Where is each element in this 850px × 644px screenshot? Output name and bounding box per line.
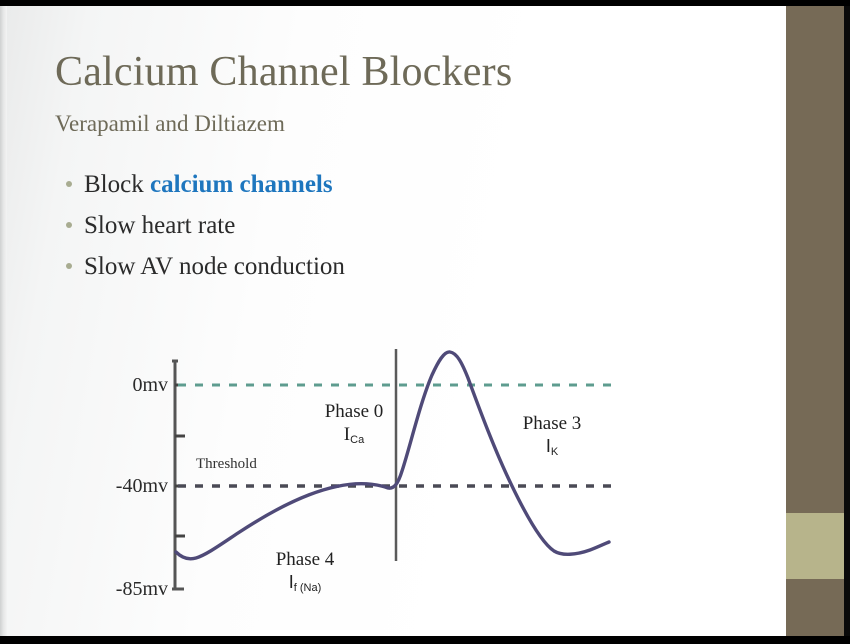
page-title: Calcium Channel Blockers xyxy=(55,47,512,97)
bullet-list: Block calcium channels Slow heart rate S… xyxy=(62,164,702,287)
phase-4-current-subscript: f (Na) xyxy=(294,582,322,594)
phase-4-label: Phase 4 xyxy=(276,549,335,570)
slide-left-edge xyxy=(0,6,7,636)
chart-plot-area xyxy=(90,331,670,621)
bullet-text-prefix: Block xyxy=(84,171,150,198)
phase-0-current: ICa xyxy=(294,423,414,449)
bullet-dot-icon xyxy=(66,222,72,228)
phase-4-current-symbol: I xyxy=(289,572,294,592)
bullet-text-highlight: calcium channels xyxy=(150,171,333,198)
list-item: Slow heart rate xyxy=(62,205,702,246)
bullet-dot-icon xyxy=(66,263,72,269)
bullet-text-prefix: Slow AV node conduction xyxy=(84,253,345,280)
phase-0-current-subscript: Ca xyxy=(350,434,364,446)
slide-sidebar-band xyxy=(786,6,844,636)
slide-screen: Calcium Channel Blockers Verapamil and D… xyxy=(0,0,850,644)
y-axis-label-0mv: 0mv xyxy=(98,374,168,396)
threshold-annotation-label: Threshold xyxy=(196,456,257,473)
list-item: Block calcium channels xyxy=(62,164,702,205)
y-axis-label-minus40mv: -40mv xyxy=(90,475,168,497)
slide-sidebar-accent-block xyxy=(786,513,844,579)
bullet-text: Slow AV node conduction xyxy=(84,252,345,282)
page-subtitle: Verapamil and Diltiazem xyxy=(55,110,285,138)
phase-3-annotation: Phase 3 IK xyxy=(492,413,612,461)
slide-stage: Calcium Channel Blockers Verapamil and D… xyxy=(0,6,850,636)
bullet-text-prefix: Slow heart rate xyxy=(84,212,235,239)
phase-3-current-subscript: K xyxy=(551,446,558,458)
phase-0-label: Phase 0 xyxy=(325,401,384,422)
slide-canvas: Calcium Channel Blockers Verapamil and D… xyxy=(0,6,786,636)
action-potential-chart: 0mv -40mv -85mv Threshold Phase 4 If (Na… xyxy=(90,331,670,621)
bullet-dot-icon xyxy=(66,181,72,187)
y-axis-label-minus85mv: -85mv xyxy=(90,578,168,600)
phase-4-annotation: Phase 4 If (Na) xyxy=(245,549,365,597)
phase-4-current: If (Na) xyxy=(245,571,365,597)
bullet-text: Block calcium channels xyxy=(84,170,333,200)
phase-3-current: IK xyxy=(492,435,612,461)
phase-3-label: Phase 3 xyxy=(523,413,582,434)
list-item: Slow AV node conduction xyxy=(62,246,702,287)
phase-0-annotation: Phase 0 ICa xyxy=(294,401,414,449)
bullet-text: Slow heart rate xyxy=(84,211,235,241)
slide-right-edge xyxy=(844,6,850,636)
